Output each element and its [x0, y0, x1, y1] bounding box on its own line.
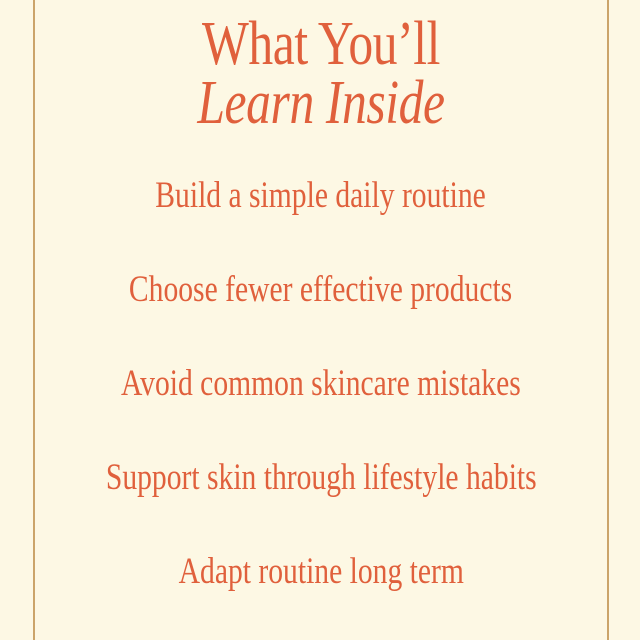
list-item: Adapt routine long term: [35, 524, 607, 618]
list-item-label: Build a simple daily routine: [156, 177, 486, 214]
list-item-label: Choose fewer effective products: [129, 271, 512, 308]
list-item: Build a simple daily routine: [35, 148, 607, 242]
poster-canvas: What You’ll Learn Inside Build a simple …: [0, 0, 640, 640]
list-item: Choose fewer effective products: [35, 242, 607, 336]
list-item: Support skin through lifestyle habits: [35, 430, 607, 524]
right-vertical-rule: [607, 0, 609, 640]
list-item-label: Avoid common skincare mistakes: [121, 365, 521, 402]
list-item: Avoid common skincare mistakes: [35, 336, 607, 430]
poster-content: What You’ll Learn Inside Build a simple …: [35, 0, 607, 640]
learning-points-list: Build a simple daily routine Choose fewe…: [35, 148, 607, 618]
list-item-label: Support skin through lifestyle habits: [106, 459, 537, 496]
page-title: What You’ll Learn Inside: [35, 16, 607, 132]
title-line-secondary: Learn Inside: [92, 75, 550, 132]
list-item-label: Adapt routine long term: [178, 553, 463, 590]
title-line-primary: What You’ll: [92, 16, 550, 73]
